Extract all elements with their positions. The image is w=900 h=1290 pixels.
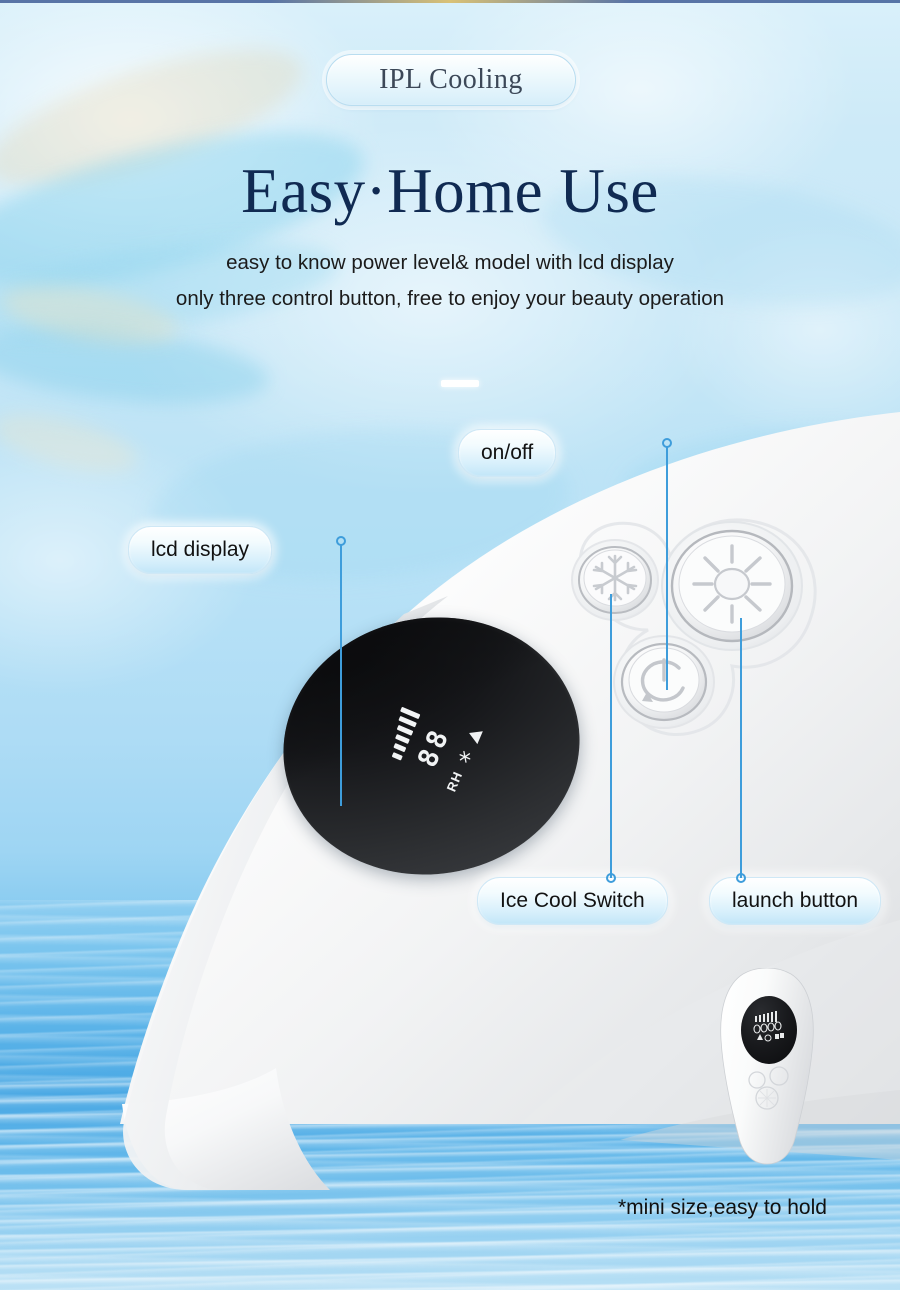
callout-lcd-display[interactable]: lcd display [128, 526, 272, 574]
page-title: Easy·Home Use [0, 160, 900, 223]
callout-ice-cool-switch[interactable]: Ice Cool Switch [477, 877, 668, 925]
decorative-dash [441, 380, 479, 387]
product-feature-page: IPL Cooling Easy·Home Use easy to know p… [0, 0, 900, 1290]
footer-caption: *mini size,easy to hold [618, 1196, 827, 1220]
triangle-a-icon [466, 726, 483, 744]
lcd-mode-label: RH [444, 769, 466, 794]
subtitle-line-2: only three control button, free to enjoy… [0, 287, 900, 311]
subtitle-line-1: easy to know power level& model with lcd… [0, 251, 900, 275]
callout-label: launch button [732, 889, 858, 913]
leader-stem [740, 618, 742, 878]
leader-stem [666, 446, 668, 690]
leader-stem [610, 594, 612, 878]
callout-label: Ice Cool Switch [500, 889, 645, 913]
callout-label: lcd display [151, 538, 249, 562]
badge-label: IPL Cooling [379, 64, 523, 96]
snowflake-icon [455, 747, 475, 767]
lcd-digits: 88 [414, 723, 455, 771]
mini-device-illustration [713, 968, 821, 1168]
callout-label: on/off [481, 441, 533, 465]
badge-ipl-cooling: IPL Cooling [326, 54, 576, 106]
callout-launch-button[interactable]: launch button [709, 877, 881, 925]
leader-stem [340, 544, 342, 806]
callout-on-off[interactable]: on/off [458, 429, 556, 477]
top-divider-line [0, 0, 900, 3]
